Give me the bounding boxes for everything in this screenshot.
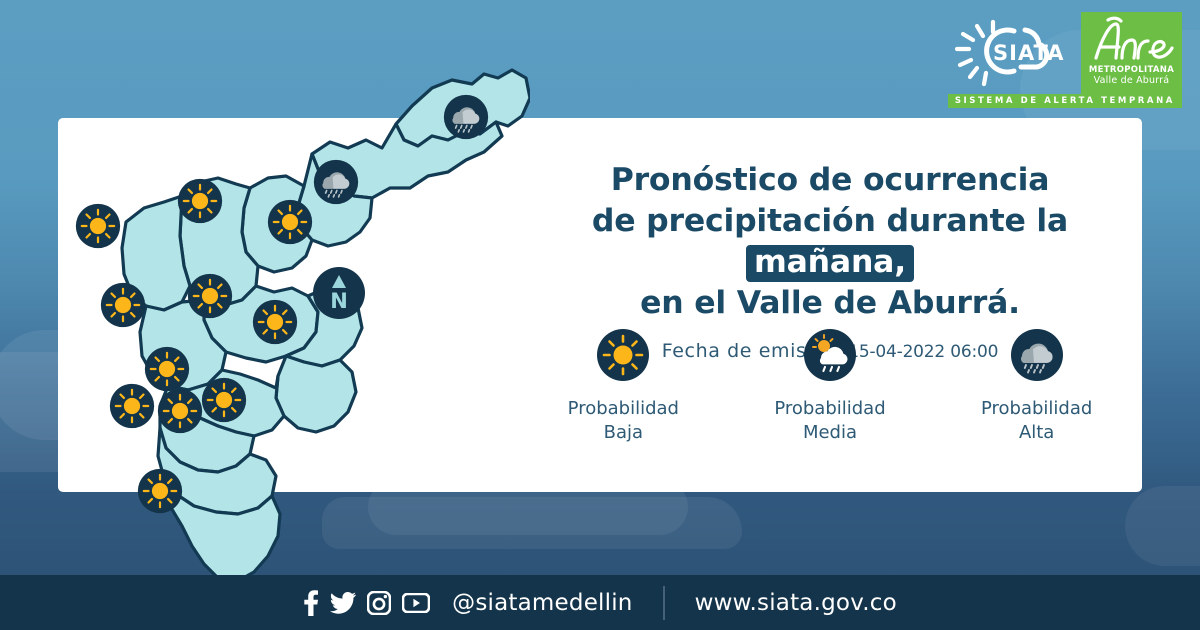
compass-north-badge: N [312, 266, 366, 320]
marker-la-estrella [109, 383, 155, 429]
sun-icon [267, 199, 313, 245]
marker-bello [177, 178, 223, 224]
logo-group: SIATA METROPOLITANA Valle de Aburrá [955, 12, 1182, 96]
youtube-icon[interactable] [402, 593, 430, 613]
marker-envigado [201, 377, 247, 423]
sun-icon [137, 468, 183, 514]
marker-caldas [137, 468, 183, 514]
website-link[interactable]: www.siata.gov.co [695, 590, 897, 616]
rain-cloud-icon [952, 328, 1122, 386]
social-icon-group [303, 590, 430, 616]
sun-icon [252, 299, 298, 345]
page-title: Pronóstico de ocurrencia de precipitació… [520, 160, 1140, 324]
marker-barbosa [443, 94, 489, 140]
sun-icon [201, 377, 247, 423]
headline-line-3: en el Valle de Aburrá. [520, 283, 1140, 324]
sun-icon [109, 383, 155, 429]
probability-legend: Probabilidad Baja [520, 328, 1140, 445]
municipality-envigado [276, 356, 356, 432]
legend-item-baja: Probabilidad Baja [538, 328, 708, 445]
legend-label-line1: Probabilidad [952, 397, 1122, 421]
social-handle[interactable]: @siatamedellin [452, 590, 632, 616]
facebook-icon[interactable] [303, 590, 319, 616]
valle-de-aburra-map: N [60, 36, 530, 586]
legend-label-line1: Probabilidad [538, 397, 708, 421]
sun-cloud-rain-icon [745, 328, 915, 386]
legend-label-line2: Media [745, 421, 915, 445]
area-script-icon [1086, 16, 1178, 64]
svg-text:SIATA: SIATA [993, 41, 1065, 65]
marker-sabaneta [157, 388, 203, 434]
headline-line-2-text: de precipitación durante la [592, 203, 1068, 239]
headline-line-2: de precipitación durante la mañana, [520, 201, 1140, 283]
sun-icon [187, 273, 233, 319]
legend-label-line1: Probabilidad [745, 397, 915, 421]
legend-item-alta: Probabilidad Alta [952, 328, 1122, 445]
sun-icon [75, 203, 121, 249]
rain-cloud-icon [443, 94, 489, 140]
amva-logo: METROPOLITANA Valle de Aburrá [1081, 12, 1182, 96]
headline-highlight: mañana, [746, 245, 914, 282]
decorative-cloud-icon [1125, 486, 1200, 566]
marker-san-jeronimo [100, 282, 146, 328]
sun-icon [100, 282, 146, 328]
sun-icon [538, 328, 708, 386]
marker-san-pedro [75, 203, 121, 249]
sun-icon [157, 388, 203, 434]
legend-label-line2: Baja [538, 421, 708, 445]
amva-metropolitana-label: METROPOLITANA [1089, 65, 1174, 75]
legend-label-alta: Probabilidad Alta [952, 397, 1122, 445]
amva-valle-label: Valle de Aburrá [1094, 75, 1170, 86]
legend-label-line2: Alta [952, 421, 1122, 445]
marker-medellin-norte [187, 273, 233, 319]
sun-icon [177, 178, 223, 224]
tagline-banner: SISTEMA DE ALERTA TEMPRANA [948, 94, 1182, 108]
legend-item-media: Probabilidad Media [745, 328, 915, 445]
legend-label-baja: Probabilidad Baja [538, 397, 708, 445]
compass-label: N [330, 289, 348, 313]
footer-bar: @siatamedellin www.siata.gov.co [0, 575, 1200, 630]
marker-medellin-sur [252, 299, 298, 345]
marker-girardota [313, 159, 359, 205]
rain-cloud-icon [313, 159, 359, 205]
instagram-icon[interactable] [367, 591, 391, 615]
footer-divider [663, 586, 665, 620]
legend-label-media: Probabilidad Media [745, 397, 915, 445]
headline-line-1: Pronóstico de ocurrencia [520, 160, 1140, 201]
marker-copacabana [267, 199, 313, 245]
siata-logo: SIATA [955, 18, 1073, 94]
twitter-icon[interactable] [330, 592, 356, 614]
